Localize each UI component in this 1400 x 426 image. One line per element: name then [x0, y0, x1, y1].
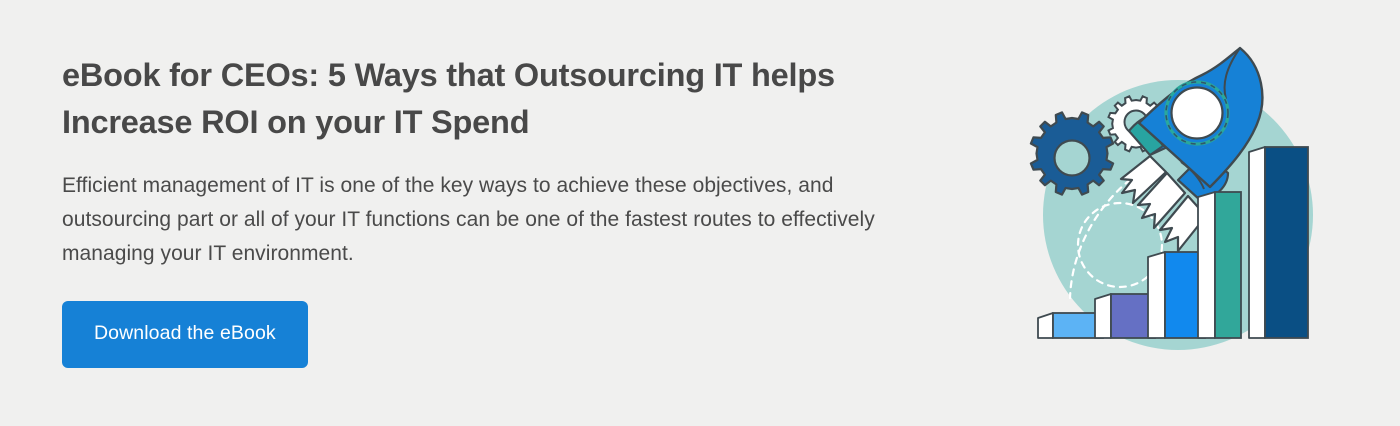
bar-4	[1198, 192, 1241, 338]
rocket-porthole-glass	[1172, 88, 1223, 139]
banner-content: eBook for CEOs: 5 Ways that Outsourcing …	[62, 52, 922, 368]
bar-3	[1148, 252, 1205, 338]
bar-1	[1038, 313, 1103, 338]
download-ebook-button[interactable]: Download the eBook	[62, 301, 308, 368]
promo-banner: eBook for CEOs: 5 Ways that Outsourcing …	[0, 0, 1400, 426]
bar-5	[1249, 147, 1308, 338]
rocket-growth-chart-illustration	[1000, 40, 1350, 370]
cta-container: Download the eBook	[62, 271, 922, 368]
banner-description: Efficient management of IT is one of the…	[62, 146, 898, 271]
large-gear-icon	[1031, 112, 1113, 194]
page-title: eBook for CEOs: 5 Ways that Outsourcing …	[62, 52, 902, 146]
bar-2	[1095, 294, 1155, 338]
